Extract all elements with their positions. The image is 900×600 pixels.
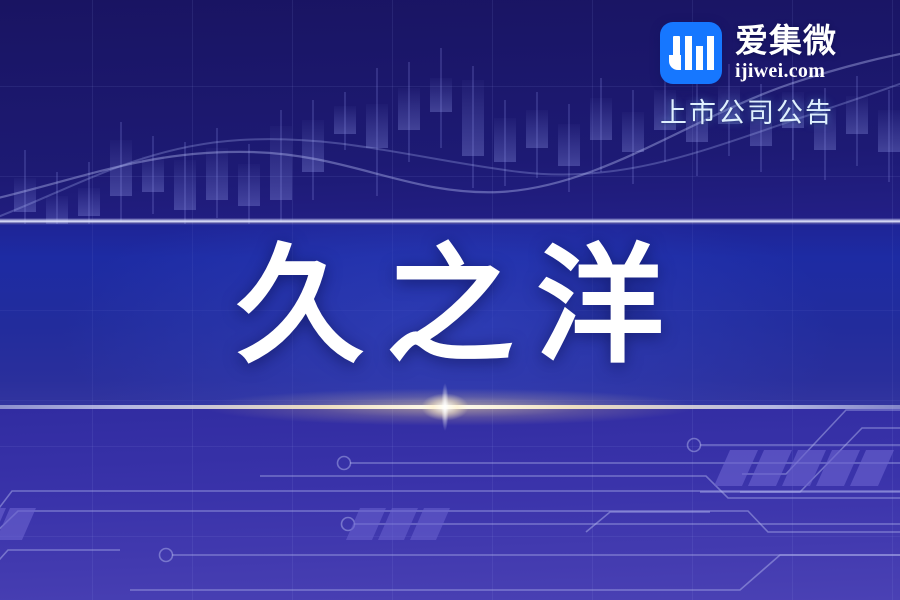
band-divider-line	[0, 218, 900, 225]
brand-name-cn: 爱集微	[735, 23, 837, 58]
announcement-banner: 久之洋	[0, 0, 900, 600]
page-title: 久之洋	[0, 233, 900, 381]
brand-domain: ijiwei.com	[735, 60, 837, 83]
brand-category-label: 上市公司公告	[660, 98, 874, 129]
circuit-decoration	[0, 400, 900, 600]
brand-logo-row: 爱集微 ijiwei.com	[660, 22, 874, 84]
bar-chart-logo-icon	[660, 22, 722, 84]
brand-block: 爱集微 ijiwei.com 上市公司公告	[660, 22, 874, 129]
brand-wordmark: 爱集微 ijiwei.com	[735, 23, 837, 83]
